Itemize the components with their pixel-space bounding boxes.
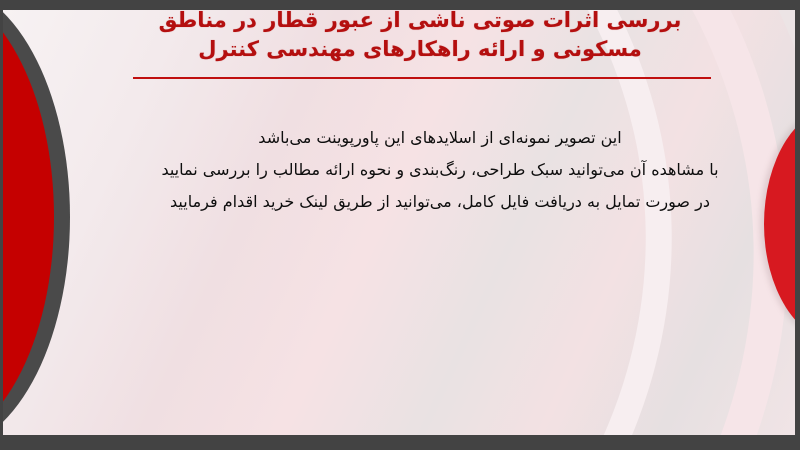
slide-body-line-2: با مشاهده آن می‌توانید سبک طراحی، رنگ‌بن… bbox=[120, 154, 760, 186]
slide-body-line-3: در صورت تمایل به دریافت فایل کامل، می‌تو… bbox=[120, 186, 760, 218]
slide-root: بررسی اثرات صوتی ناشی از عبور قطار در من… bbox=[0, 0, 800, 450]
slide-title-line-1: بررسی اثرات صوتی ناشی از عبور قطار در من… bbox=[120, 6, 720, 35]
slide-title-line-2: مسکونی و ارائه راهکارهای مهندسی کنترل bbox=[120, 35, 720, 64]
slide-title: بررسی اثرات صوتی ناشی از عبور قطار در من… bbox=[120, 6, 720, 64]
title-underline bbox=[133, 77, 711, 79]
slide-body: این تصویر نمونه‌ای از اسلایدهای این پاور… bbox=[120, 122, 760, 218]
slide-content: بررسی اثرات صوتی ناشی از عبور قطار در من… bbox=[0, 0, 800, 450]
slide-body-line-1: این تصویر نمونه‌ای از اسلایدهای این پاور… bbox=[120, 122, 760, 154]
